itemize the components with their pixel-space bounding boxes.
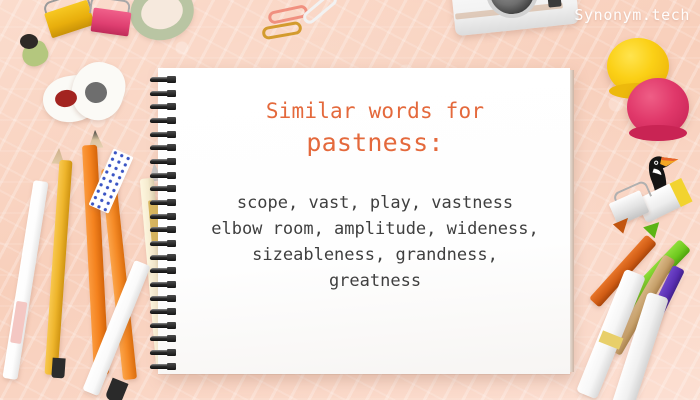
spiral-ring xyxy=(150,281,178,288)
spiral-ring xyxy=(150,308,178,315)
synonym-line: elbow room, amplitude, wideness, xyxy=(190,216,560,242)
synonym-line: sizeableness, grandness, xyxy=(190,242,560,268)
spiral-ring xyxy=(150,90,178,97)
spiral-ring xyxy=(150,213,178,220)
spiral-ring xyxy=(150,103,178,110)
spiral-ring xyxy=(150,322,178,329)
spiral-ring xyxy=(150,185,178,192)
spiral-ring xyxy=(150,144,178,151)
spiral-ring xyxy=(150,267,178,274)
spiral-ring xyxy=(150,240,178,247)
spiral-ring xyxy=(150,199,178,206)
spiral-ring xyxy=(150,254,178,261)
notebook-page-edge xyxy=(570,70,574,372)
spiral-ring xyxy=(150,295,178,302)
binder-clip-pink-icon xyxy=(91,7,132,36)
spiral-ring xyxy=(150,349,178,356)
camera-flash-icon xyxy=(547,0,561,8)
synonym-line: scope, vast, play, vastness xyxy=(190,190,560,216)
synonym-list: scope, vast, play, vastness elbow room, … xyxy=(190,190,560,294)
spiral-ring xyxy=(150,76,178,83)
site-watermark: Synonym.tech xyxy=(574,6,690,24)
black-pebble-icon xyxy=(20,34,38,49)
macaron-pink-icon xyxy=(627,78,689,136)
notebook-text-block: Similar words for pastness: scope, vast,… xyxy=(190,96,560,294)
spiral-ring xyxy=(150,131,178,138)
spiral-ring xyxy=(150,226,178,233)
notebook-spiral-binding xyxy=(150,76,178,370)
spiral-ring xyxy=(150,158,178,165)
headword-label: pastness: xyxy=(190,126,560,160)
spiral-ring xyxy=(150,172,178,179)
spiral-ring xyxy=(150,117,178,124)
scene: Similar words for pastness: scope, vast,… xyxy=(0,0,700,400)
synonym-line: greatness xyxy=(190,268,560,294)
pencil-yellow-eraser-icon xyxy=(51,358,65,379)
spiral-ring xyxy=(150,335,178,342)
spiral-ring xyxy=(150,363,178,370)
similar-words-label: Similar words for xyxy=(190,96,560,126)
